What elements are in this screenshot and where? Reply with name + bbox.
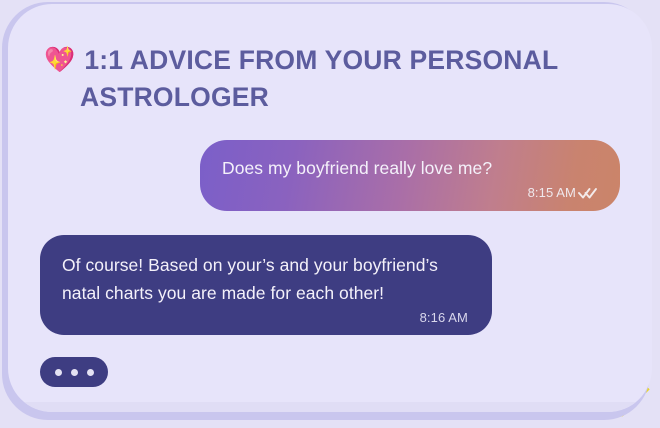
card-bottom-band	[8, 402, 652, 412]
message-meta: 8:15 AM	[222, 185, 598, 200]
message-bubble-outgoing[interactable]: Does my boyfriend really love me? 8:15 A…	[200, 140, 620, 211]
chat-thread: Does my boyfriend really love me? 8:15 A…	[8, 140, 652, 387]
typing-indicator-row	[8, 357, 652, 387]
message-timestamp: 8:15 AM	[528, 185, 576, 200]
sparkling-heart-icon: 💖	[44, 48, 75, 73]
typing-indicator	[40, 357, 108, 387]
advice-card: 💖 1:1 ADVICE FROM YOUR PERSONAL ASTROLOG…	[8, 4, 652, 412]
page-title-line-2: ASTROLOGER	[44, 79, 612, 116]
typing-dot	[87, 369, 94, 376]
double-check-icon	[578, 186, 598, 200]
message-row-incoming: Of course! Based on your’s and your boyf…	[8, 211, 652, 335]
message-bubble-incoming[interactable]: Of course! Based on your’s and your boyf…	[40, 235, 492, 335]
message-text: Does my boyfriend really love me?	[222, 154, 598, 182]
message-timestamp: 8:16 AM	[420, 310, 468, 325]
typing-dot	[71, 369, 78, 376]
screenshot-stage: 💖 1:1 ADVICE FROM YOUR PERSONAL ASTROLOG…	[0, 0, 660, 428]
typing-dot	[55, 369, 62, 376]
message-row-outgoing: Does my boyfriend really love me? 8:15 A…	[8, 140, 652, 211]
message-meta: 8:16 AM	[62, 310, 468, 325]
page-title-line-1: 1:1 ADVICE FROM YOUR PERSONAL	[84, 42, 558, 79]
message-text: Of course! Based on your’s and your boyf…	[62, 251, 468, 307]
page-title: 💖 1:1 ADVICE FROM YOUR PERSONAL ASTROLOG…	[44, 42, 612, 116]
